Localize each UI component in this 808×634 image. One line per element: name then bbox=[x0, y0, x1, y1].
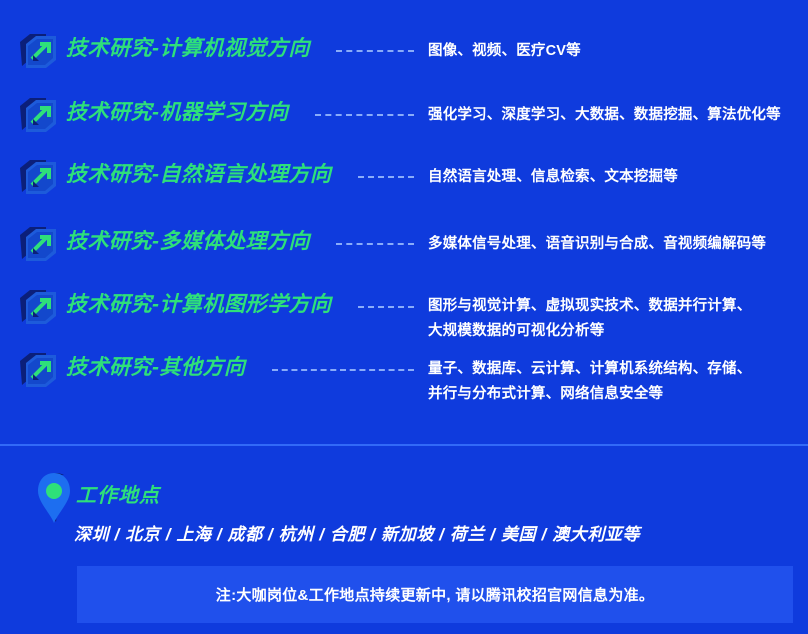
map-pin-icon bbox=[26, 470, 78, 526]
arrow-in-frame-icon bbox=[16, 223, 60, 267]
note-text: 注:大咖岗位&工作地点持续更新中, 请以腾讯校招官网信息为准。 bbox=[216, 584, 654, 605]
direction-description: 自然语言处理、信息检索、文本挖掘等 bbox=[428, 165, 802, 190]
dashed-connector bbox=[358, 306, 414, 310]
direction-title: 技术研究-计算机视觉方向 bbox=[66, 36, 310, 62]
direction-description-line: 图像、视频、医疗CV等 bbox=[428, 39, 802, 64]
dashed-connector bbox=[358, 176, 414, 180]
direction-description: 量子、数据库、云计算、计算机系统结构、存储、 并行与分布式计算、网络信息安全等 bbox=[428, 357, 802, 407]
arrow-in-frame-icon bbox=[16, 349, 60, 393]
direction-description: 强化学习、深度学习、大数据、数据挖掘、算法优化等 bbox=[428, 103, 802, 128]
dashed-connector bbox=[336, 243, 414, 247]
arrow-in-frame-icon bbox=[16, 286, 60, 330]
work-location-cities: 深圳 / 北京 / 上海 / 成都 / 杭州 / 合肥 / 新加坡 / 荷兰 /… bbox=[74, 520, 640, 545]
note-bar: 注:大咖岗位&工作地点持续更新中, 请以腾讯校招官网信息为准。 bbox=[77, 566, 793, 623]
direction-title: 技术研究-机器学习方向 bbox=[66, 100, 289, 126]
direction-title: 技术研究-多媒体处理方向 bbox=[66, 229, 310, 255]
arrow-in-frame-icon bbox=[16, 94, 60, 138]
direction-description-line: 并行与分布式计算、网络信息安全等 bbox=[428, 382, 802, 407]
poster-page: 技术研究-计算机视觉方向 图像、视频、医疗CV等 技术研究-机器学习方向 bbox=[0, 0, 808, 634]
direction-description-line: 强化学习、深度学习、大数据、数据挖掘、算法优化等 bbox=[428, 103, 802, 128]
direction-title: 技术研究-自然语言处理方向 bbox=[66, 162, 332, 188]
dashed-connector bbox=[272, 369, 414, 373]
research-directions-list: 技术研究-计算机视觉方向 图像、视频、医疗CV等 技术研究-机器学习方向 bbox=[0, 0, 808, 440]
direction-description-line: 量子、数据库、云计算、计算机系统结构、存储、 bbox=[428, 357, 802, 382]
arrow-in-frame-icon bbox=[16, 30, 60, 74]
direction-description-line: 自然语言处理、信息检索、文本挖掘等 bbox=[428, 165, 802, 190]
direction-description-line: 图形与视觉计算、虚拟现实技术、数据并行计算、 bbox=[428, 294, 802, 319]
arrow-in-frame-icon bbox=[16, 156, 60, 200]
direction-description-line: 大规模数据的可视化分析等 bbox=[428, 319, 802, 344]
direction-description-line: 多媒体信号处理、语音识别与合成、音视频编解码等 bbox=[428, 232, 802, 257]
direction-description: 图形与视觉计算、虚拟现实技术、数据并行计算、 大规模数据的可视化分析等 bbox=[428, 294, 802, 344]
work-location-section: 工作地点 深圳 / 北京 / 上海 / 成都 / 杭州 / 合肥 / 新加坡 /… bbox=[0, 446, 808, 556]
dashed-connector bbox=[315, 114, 414, 118]
direction-description: 多媒体信号处理、语音识别与合成、音视频编解码等 bbox=[428, 232, 802, 257]
direction-title: 技术研究-计算机图形学方向 bbox=[66, 292, 332, 318]
dashed-connector bbox=[336, 50, 414, 54]
direction-title: 技术研究-其他方向 bbox=[66, 355, 246, 381]
direction-description: 图像、视频、医疗CV等 bbox=[428, 39, 802, 64]
work-location-title: 工作地点 bbox=[76, 479, 160, 508]
